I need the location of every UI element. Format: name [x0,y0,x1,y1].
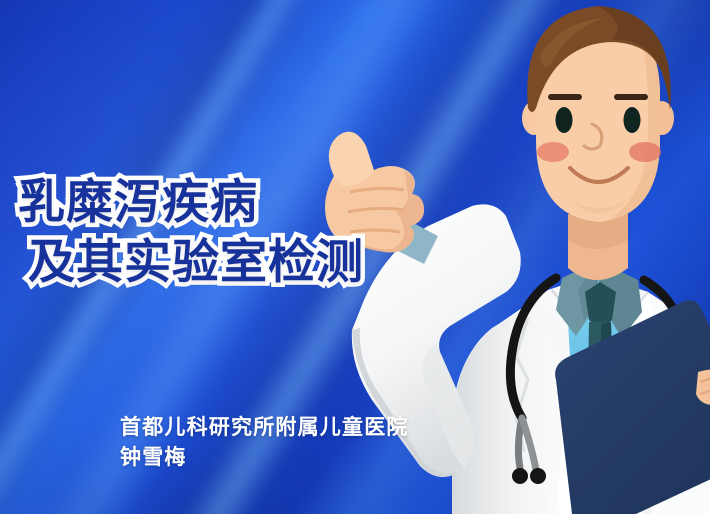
title-line-2: 及其实验室检测 [28,232,364,292]
eyebrow-left [548,94,582,100]
slide-title: 乳糜泻疾病 及其实验室检测 [18,172,364,292]
subtitle-organization: 首都儿科研究所附属儿童医院 [120,413,409,443]
eye-left [556,107,573,133]
eyebrow-right [614,94,648,100]
eye-right [624,107,641,133]
stethoscope-earpiece-right [530,468,546,484]
head-and-neck [522,6,674,280]
slide-canvas: 乳糜泻疾病 及其实验室检测 首都儿科研究所附属儿童医院 钟雪梅 [0,0,710,514]
cheek-left [537,142,569,162]
slide-subtitle: 首都儿科研究所附属儿童医院 钟雪梅 [120,413,409,473]
subtitle-presenter: 钟雪梅 [120,443,409,473]
title-line-1: 乳糜泻疾病 [18,172,364,232]
stethoscope-earpiece-left [512,468,528,484]
cheek-right [629,142,661,162]
